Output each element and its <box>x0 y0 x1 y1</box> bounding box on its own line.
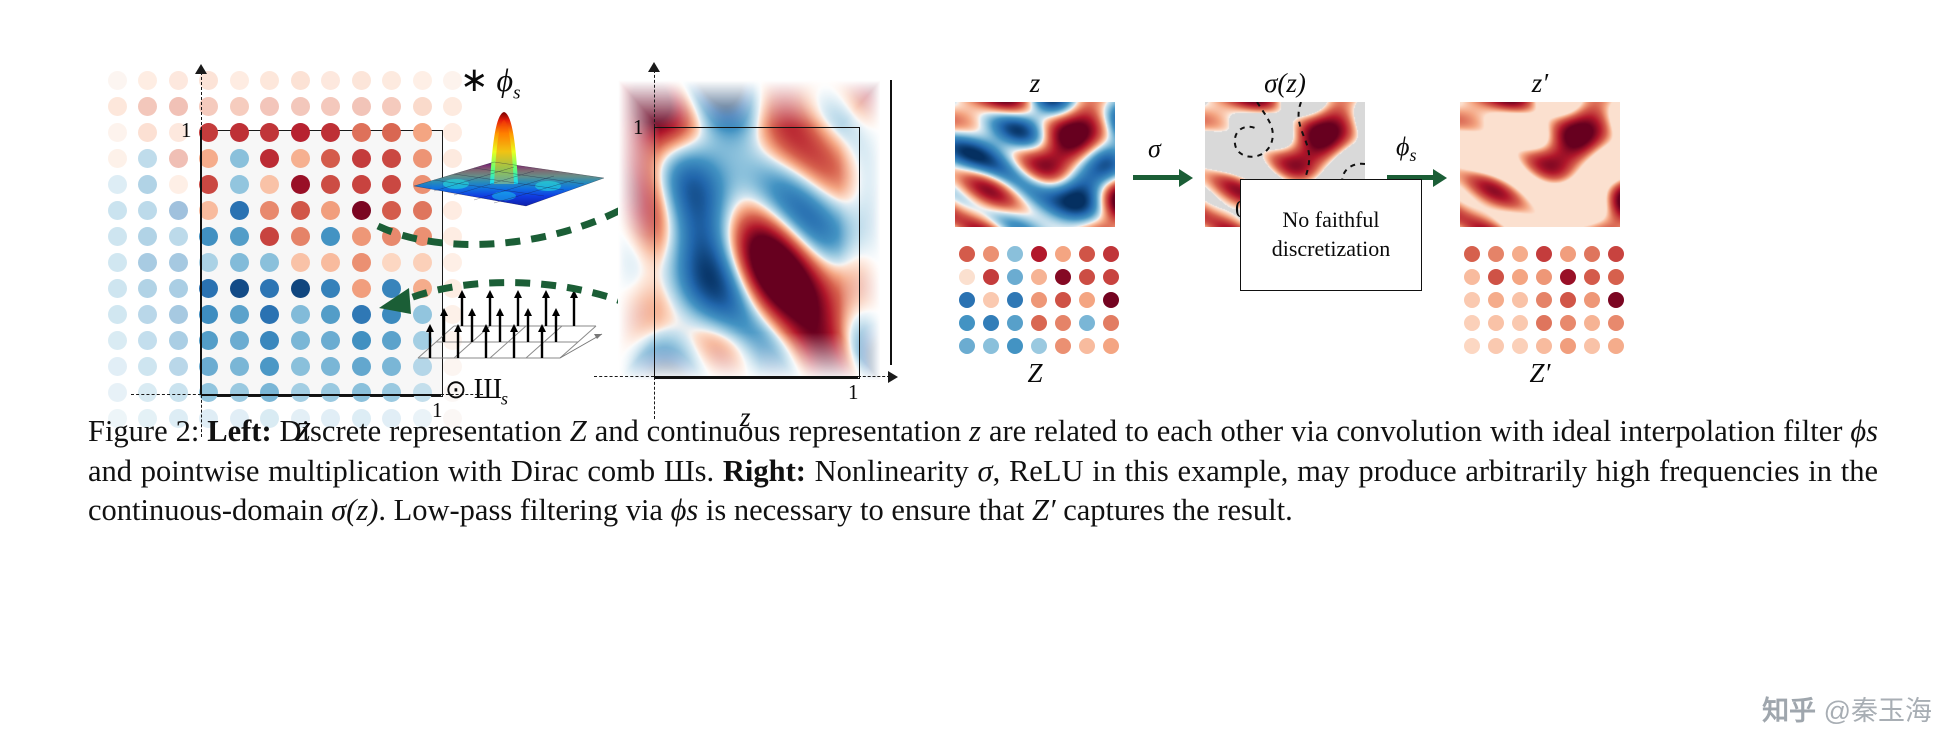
lattice-dot <box>1584 246 1600 262</box>
lattice-dot <box>1007 292 1023 308</box>
lattice-dot <box>1512 246 1528 262</box>
right-bottom-label-Z-prime: Z′ <box>1460 358 1620 389</box>
lattice-dot <box>1464 315 1480 331</box>
caption-sym-phi-2: ϕs <box>671 493 699 527</box>
right-lattice-Z <box>955 242 1115 362</box>
lattice-dot <box>382 357 401 376</box>
caption-sym-z: z <box>969 414 981 448</box>
lattice-dot <box>230 253 249 272</box>
x-axis-dashed-left <box>131 394 201 395</box>
caption-sym-sha: Шs <box>664 454 707 488</box>
watermark-logo: 知乎 <box>1762 696 1816 726</box>
lattice-dot <box>352 71 371 90</box>
lattice-dot <box>1055 338 1071 354</box>
lattice-dot <box>1584 269 1600 285</box>
lattice-dot <box>321 279 340 298</box>
lattice-dot <box>169 149 188 168</box>
lattice-dot <box>321 201 340 220</box>
lattice-dot <box>138 175 157 194</box>
lattice-dot <box>230 71 249 90</box>
lattice-dot <box>230 175 249 194</box>
left-y-tick-label: 1 <box>181 118 192 143</box>
lattice-dot <box>291 149 310 168</box>
lattice-dot <box>138 71 157 90</box>
lattice-dot <box>1079 269 1095 285</box>
x-axis-solid <box>201 394 441 396</box>
lattice-dot <box>321 331 340 350</box>
lattice-dot <box>260 175 279 194</box>
operator-phi-arrow-head <box>1433 169 1447 187</box>
lattice-dot <box>138 279 157 298</box>
right-label-z: z <box>955 68 1115 99</box>
lattice-dot <box>169 279 188 298</box>
caption-seg-9: is necessary to ensure that <box>698 493 1032 527</box>
lattice-dot <box>169 227 188 246</box>
lattice-dot <box>1007 338 1023 354</box>
lattice-dot <box>138 123 157 142</box>
lattice-dot <box>321 253 340 272</box>
lattice-dot <box>1055 315 1071 331</box>
lattice-dot <box>138 227 157 246</box>
right-image-z-prime <box>1460 102 1620 227</box>
lattice-dot <box>382 149 401 168</box>
lattice-dot <box>169 253 188 272</box>
lattice-dot <box>959 292 975 308</box>
lattice-dot <box>108 227 127 246</box>
caption-sym-sigma-z: σ(z) <box>331 493 378 527</box>
cont-y-axis-dashed <box>654 70 655 127</box>
lattice-dot <box>1031 315 1047 331</box>
lattice-dot <box>983 338 999 354</box>
lattice-dot <box>138 149 157 168</box>
lattice-dot <box>169 201 188 220</box>
lattice-dot <box>1608 246 1624 262</box>
lattice-dot <box>1079 315 1095 331</box>
lattice-dot <box>1512 338 1528 354</box>
lattice-dot <box>1079 338 1095 354</box>
right-bottom-label-Z: Z <box>955 358 1115 389</box>
no-faithful-discretization-box: No faithful discretization <box>1240 179 1422 291</box>
caption-seg-8: . Low-pass filtering via <box>378 493 670 527</box>
lattice-dot <box>108 71 127 90</box>
lattice-dot <box>260 331 279 350</box>
caption-left-head: Left: <box>207 414 271 448</box>
lattice-dot <box>260 201 279 220</box>
lattice-dot <box>1560 246 1576 262</box>
lattice-dot <box>291 123 310 142</box>
lattice-dot <box>291 305 310 324</box>
lattice-dot <box>138 201 157 220</box>
lattice-dot <box>352 201 371 220</box>
lattice-dot <box>169 331 188 350</box>
lattice-dot <box>1584 292 1600 308</box>
continuous-unit-square <box>654 127 860 379</box>
lattice-dot <box>1103 246 1119 262</box>
caption-seg-6: Nonlinearity <box>806 454 978 488</box>
lattice-dot <box>291 253 310 272</box>
lattice-dot <box>108 279 127 298</box>
lattice-dot <box>1488 292 1504 308</box>
watermark: 知乎 @秦玉海 <box>1762 689 1932 728</box>
lattice-dot <box>1031 269 1047 285</box>
lattice-dot <box>321 149 340 168</box>
lattice-dot <box>352 97 371 116</box>
lattice-dot <box>291 175 310 194</box>
cont-x-axis-solid <box>654 376 858 378</box>
lattice-dot <box>352 123 371 142</box>
lattice-dot <box>138 253 157 272</box>
lattice-dot <box>169 383 188 402</box>
y-axis-dashed <box>201 72 202 130</box>
lattice-dot <box>199 149 218 168</box>
lattice-dot <box>1103 292 1119 308</box>
right-nonlinearity-panel: z σ(z) z′ 0 σ ϕs Z Z′ <box>930 62 1930 392</box>
lattice-dot <box>108 175 127 194</box>
lattice-dot <box>169 357 188 376</box>
lattice-dot <box>321 357 340 376</box>
lattice-dot <box>1512 269 1528 285</box>
lattice-dot <box>260 149 279 168</box>
lattice-dot <box>108 253 127 272</box>
lattice-dot <box>138 331 157 350</box>
lattice-dot <box>230 201 249 220</box>
caption-seg-10: captures the result. <box>1056 493 1293 527</box>
lattice-dot <box>291 383 310 402</box>
right-image-z <box>955 102 1115 227</box>
operator-sigma-arrow-line <box>1133 175 1181 180</box>
lattice-dot <box>1608 315 1624 331</box>
lattice-dot <box>138 357 157 376</box>
lattice-dot <box>1512 315 1528 331</box>
lattice-dot <box>108 123 127 142</box>
right-lattice-Z-prime <box>1460 242 1620 362</box>
caption-sym-sigma: σ <box>978 454 993 488</box>
lattice-dot <box>1536 269 1552 285</box>
lattice-dot <box>1103 338 1119 354</box>
lattice-dot <box>1560 292 1576 308</box>
lattice-dot <box>321 123 340 142</box>
lattice-dot <box>1007 315 1023 331</box>
lattice-dot <box>260 123 279 142</box>
lattice-dot <box>1103 269 1119 285</box>
dirac-comb-operator-label: ⊙ Шs <box>445 374 508 410</box>
lattice-dot <box>199 279 218 298</box>
operator-sigma-label: σ <box>1148 134 1161 164</box>
lattice-dot <box>1536 338 1552 354</box>
panel-divider <box>890 80 892 365</box>
lattice-dot <box>199 227 218 246</box>
cont-y-tick-label: 1 <box>633 115 644 140</box>
lattice-dot <box>108 357 127 376</box>
lattice-dot <box>169 71 188 90</box>
lattice-dot <box>1031 246 1047 262</box>
lattice-dot <box>352 175 371 194</box>
lattice-dot <box>352 383 371 402</box>
right-label-sigma-z: σ(z) <box>1205 68 1365 99</box>
lattice-dot <box>108 201 127 220</box>
cont-x-axis-arrowhead <box>888 371 898 383</box>
lattice-dot <box>321 305 340 324</box>
caption-sym-Z: Z <box>570 414 587 448</box>
lattice-dot <box>352 149 371 168</box>
lattice-dot <box>138 383 157 402</box>
lattice-dot <box>382 123 401 142</box>
operator-sigma-arrow-head <box>1179 169 1193 187</box>
lattice-dot <box>352 357 371 376</box>
lattice-dot <box>1464 292 1480 308</box>
lattice-dot <box>1031 292 1047 308</box>
caption-sym-Zprime: Z′ <box>1032 493 1056 527</box>
lattice-dot <box>1488 315 1504 331</box>
caption-seg-1: Discrete representation <box>272 414 570 448</box>
lattice-dot <box>1560 315 1576 331</box>
lattice-dot <box>169 305 188 324</box>
lattice-dot <box>260 227 279 246</box>
lattice-dot <box>1512 292 1528 308</box>
lattice-dot <box>260 383 279 402</box>
lattice-dot <box>959 338 975 354</box>
lattice-dot <box>321 71 340 90</box>
lattice-dot <box>1079 292 1095 308</box>
lattice-dot <box>1608 338 1624 354</box>
lattice-dot <box>108 305 127 324</box>
lattice-dot <box>169 97 188 116</box>
lattice-dot <box>260 97 279 116</box>
lattice-dot <box>291 97 310 116</box>
lattice-dot <box>291 279 310 298</box>
lattice-dot <box>1007 269 1023 285</box>
cont-x-axis-dashed-right <box>858 376 890 377</box>
y-axis-arrowhead <box>195 64 207 74</box>
lattice-dot <box>382 71 401 90</box>
lattice-dot <box>959 315 975 331</box>
lattice-dot <box>260 357 279 376</box>
lattice-dot <box>321 383 340 402</box>
lattice-dot <box>1103 315 1119 331</box>
cont-x-tick-label: 1 <box>848 380 859 405</box>
lattice-dot <box>1584 338 1600 354</box>
lattice-dot <box>1608 292 1624 308</box>
lattice-dot <box>983 246 999 262</box>
caption-right-head: Right: <box>723 454 806 488</box>
lattice-dot <box>230 227 249 246</box>
lattice-dot <box>1536 315 1552 331</box>
lattice-dot <box>1488 338 1504 354</box>
lattice-dot <box>260 71 279 90</box>
lattice-dot <box>230 305 249 324</box>
lattice-dot <box>1464 246 1480 262</box>
caption-seg-3: are related to each other via convolutio… <box>981 414 1850 448</box>
lattice-dot <box>321 175 340 194</box>
operator-phi-label: ϕs <box>1396 132 1416 166</box>
cont-y-axis-arrowhead <box>648 62 660 72</box>
cont-y-axis-solid <box>654 127 656 377</box>
caption-seg-4: and pointwise multiplication with Dirac … <box>88 454 664 488</box>
lattice-dot <box>199 175 218 194</box>
lattice-dot <box>1079 246 1095 262</box>
caption-seg-5: . <box>707 454 723 488</box>
lattice-dot <box>138 97 157 116</box>
lattice-dot <box>199 305 218 324</box>
lattice-dot <box>1488 246 1504 262</box>
lattice-dot <box>1584 315 1600 331</box>
lattice-dot <box>291 357 310 376</box>
lattice-dot <box>199 357 218 376</box>
lattice-dot <box>382 383 401 402</box>
lattice-dot <box>230 97 249 116</box>
lattice-dot <box>199 253 218 272</box>
lattice-dot <box>230 149 249 168</box>
lattice-dot <box>352 331 371 350</box>
lattice-dot <box>1464 338 1480 354</box>
lattice-dot <box>983 292 999 308</box>
lattice-dot <box>291 71 310 90</box>
lattice-dot <box>1536 292 1552 308</box>
lattice-dot <box>321 227 340 246</box>
convolution-operator-label: ∗ ϕs <box>460 60 520 104</box>
lattice-dot <box>230 123 249 142</box>
lattice-dot <box>1608 269 1624 285</box>
lattice-dot <box>321 97 340 116</box>
lattice-dot <box>291 227 310 246</box>
lattice-dot <box>230 331 249 350</box>
caption-sym-phi: ϕs <box>1850 414 1878 448</box>
figure-caption: Figure 2: Left: Discrete representation … <box>88 412 1878 531</box>
lattice-dot <box>169 175 188 194</box>
lattice-dot <box>983 269 999 285</box>
lattice-dot <box>230 383 249 402</box>
lattice-dot <box>108 331 127 350</box>
lattice-dot <box>199 201 218 220</box>
lattice-dot <box>1055 269 1071 285</box>
lattice-dot <box>1536 246 1552 262</box>
right-label-z-prime: z′ <box>1460 68 1620 99</box>
caption-seg-2: and continuous representation <box>587 414 969 448</box>
lattice-dot <box>291 331 310 350</box>
figure-number: Figure 2: <box>88 414 199 448</box>
lattice-dot <box>260 279 279 298</box>
lattice-dot <box>260 305 279 324</box>
lattice-dot <box>1007 246 1023 262</box>
lattice-dot <box>1560 269 1576 285</box>
lattice-dot <box>983 315 999 331</box>
lattice-dot <box>1488 269 1504 285</box>
lattice-dot <box>1055 292 1071 308</box>
figure-graphic: 1 1 Z ∗ ϕs <box>0 0 1950 400</box>
lattice-dot <box>291 201 310 220</box>
lattice-dot <box>230 279 249 298</box>
lattice-dot <box>1560 338 1576 354</box>
y-axis-solid <box>200 130 202 395</box>
no-faithful-line2: discretization <box>1272 236 1391 261</box>
cont-x-axis-dashed-left <box>594 376 654 377</box>
lattice-dot <box>959 246 975 262</box>
no-faithful-text: No faithful discretization <box>1272 206 1391 263</box>
lattice-dot <box>138 305 157 324</box>
lattice-dot <box>108 383 127 402</box>
no-faithful-line1: No faithful <box>1282 207 1379 232</box>
lattice-dot <box>199 331 218 350</box>
lattice-dot <box>260 253 279 272</box>
lattice-dot <box>1464 269 1480 285</box>
lattice-dot <box>382 97 401 116</box>
lattice-dot <box>1055 246 1071 262</box>
lattice-dot <box>1031 338 1047 354</box>
lattice-dot <box>108 149 127 168</box>
continuous-field-panel: 1 1 z <box>580 62 890 392</box>
lattice-dot <box>382 331 401 350</box>
lattice-dot <box>108 97 127 116</box>
lattice-dot <box>959 269 975 285</box>
lattice-dot <box>230 357 249 376</box>
watermark-handle: @秦玉海 <box>1824 696 1932 726</box>
